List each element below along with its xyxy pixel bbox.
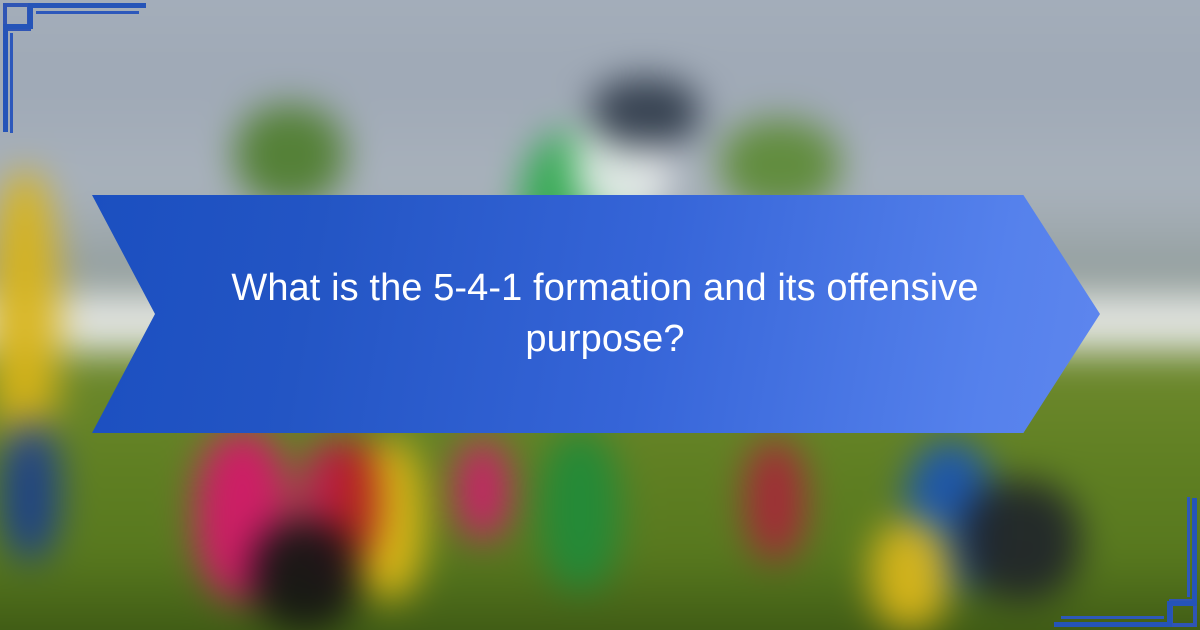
corner-thin-rule-vertical bbox=[1187, 497, 1190, 597]
corner-thin-rule-horizontal bbox=[36, 11, 139, 14]
player-red-right bbox=[745, 440, 805, 560]
card-canvas: What is the 5-4-1 formation and its offe… bbox=[0, 0, 1200, 630]
corner-rule-vertical-stub bbox=[1167, 603, 1172, 627]
player-yellow-far bbox=[870, 520, 950, 630]
corner-rule-horizontal bbox=[1054, 622, 1172, 627]
player-green-right bbox=[540, 430, 620, 590]
corner-thin-rule-horizontal bbox=[1061, 616, 1164, 619]
player-pink-right bbox=[455, 440, 510, 540]
player-blue-left bbox=[0, 420, 60, 560]
corner-ornament-top-left bbox=[0, 0, 160, 130]
corner-rule-horizontal bbox=[28, 3, 146, 8]
player-dark-arms bbox=[590, 78, 700, 148]
player-black-shorts bbox=[250, 520, 360, 630]
corner-rule-vertical bbox=[1192, 498, 1197, 606]
corner-thin-rule-vertical bbox=[10, 33, 13, 133]
corner-rule-vertical bbox=[3, 24, 8, 132]
headline-text: What is the 5-4-1 formation and its offe… bbox=[210, 263, 1000, 365]
headline-text-wrap: What is the 5-4-1 formation and its offe… bbox=[175, 195, 1035, 433]
corner-ornament-bottom-right bbox=[1040, 500, 1200, 630]
tree-left bbox=[235, 105, 345, 205]
